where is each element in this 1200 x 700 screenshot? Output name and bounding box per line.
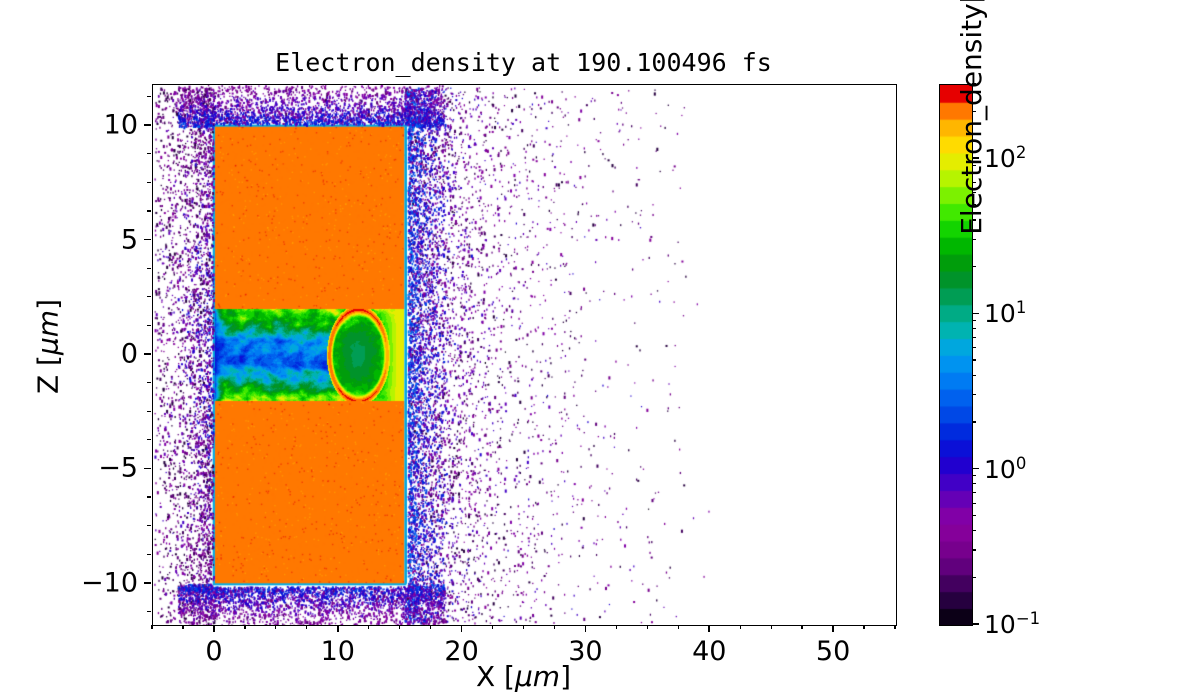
x-tick-0	[213, 625, 215, 632]
x-tick-minor	[492, 625, 493, 629]
colorbar-tick-minor	[972, 530, 976, 531]
figure-canvas: Electron_density at 190.100496 fs 010203…	[0, 0, 1200, 700]
x-tick-minor	[647, 625, 648, 629]
x-tick-minor	[244, 625, 245, 629]
colorbar-tick-10e0	[972, 468, 979, 470]
colorbar-label-text: Electron_density[nc]	[955, 0, 988, 235]
colorbar-label: Electron_density[nc]	[955, 0, 993, 354]
y-tick-minor	[147, 210, 151, 211]
y-tick-minor	[147, 411, 151, 412]
y-tick-−10	[144, 582, 151, 584]
colorbar-tick-minor	[972, 394, 976, 395]
y-tick-minor	[147, 182, 151, 183]
plot-axes	[152, 84, 897, 626]
x-tick-40	[708, 625, 710, 632]
y-tick-5	[144, 239, 151, 241]
colorbar-tick-minor	[972, 483, 976, 484]
x-axis-label: X [μm]	[152, 660, 895, 693]
x-tick-20	[461, 625, 463, 632]
colorbar-tick-minor	[972, 515, 976, 516]
x-tick-minor	[430, 625, 431, 629]
colorbar-tick-minor	[972, 421, 976, 422]
y-tick-label-−5: −5	[22, 453, 138, 484]
x-tick-30	[585, 625, 587, 632]
x-tick-minor	[616, 625, 617, 629]
y-tick-minor	[147, 611, 151, 612]
x-tick-minor	[894, 625, 895, 629]
x-tick-minor	[771, 625, 772, 629]
y-tick-minor	[147, 525, 151, 526]
y-tick-minor	[147, 296, 151, 297]
y-tick-minor	[147, 153, 151, 154]
y-tick-minor	[147, 382, 151, 383]
x-tick-minor	[182, 625, 183, 629]
colorbar-tick-minor	[972, 359, 976, 360]
y-tick-minor	[147, 496, 151, 497]
y-tick-−5	[144, 468, 151, 470]
x-tick-10	[337, 625, 339, 632]
x-tick-minor	[554, 625, 555, 629]
colorbar-tick-minor	[972, 475, 976, 476]
colorbar-tick-label-10e0: 100	[984, 454, 1026, 484]
colorbar-tick-minor	[972, 503, 976, 504]
y-tick-label-10: 10	[22, 110, 138, 141]
x-tick-minor	[801, 625, 802, 629]
x-tick-minor	[523, 625, 524, 629]
y-tick-minor	[147, 268, 151, 269]
x-tick-minor	[399, 625, 400, 629]
x-tick-minor	[863, 625, 864, 629]
y-tick-minor	[147, 325, 151, 326]
y-tick-10	[144, 124, 151, 126]
y-tick-minor	[147, 96, 151, 97]
y-axis-label: Z [μm]	[32, 247, 65, 447]
x-axis-label-text: X [μm]	[476, 660, 571, 693]
x-tick-minor	[368, 625, 369, 629]
x-tick-minor	[740, 625, 741, 629]
y-tick-label-−10: −10	[22, 567, 138, 598]
colorbar-tick-minor	[972, 577, 976, 578]
colorbar-tick-minor	[972, 492, 976, 493]
x-tick-minor	[306, 625, 307, 629]
x-tick-minor	[678, 625, 679, 629]
colorbar-tick-minor	[972, 549, 976, 550]
y-tick-0	[144, 353, 151, 355]
y-tick-minor	[147, 439, 151, 440]
colorbar-tick-label-10e−1: 10−1	[984, 609, 1040, 639]
y-tick-minor	[147, 554, 151, 555]
x-tick-minor	[151, 625, 152, 629]
colorbar-tick-10e−1	[972, 623, 979, 625]
x-tick-minor	[275, 625, 276, 629]
colorbar-tick-minor	[972, 375, 976, 376]
x-tick-50	[832, 625, 834, 632]
y-axis-label-text: Z [μm]	[32, 299, 65, 394]
electron-density-heatmap	[153, 85, 896, 625]
page-title: Electron_density at 190.100496 fs	[152, 48, 895, 77]
